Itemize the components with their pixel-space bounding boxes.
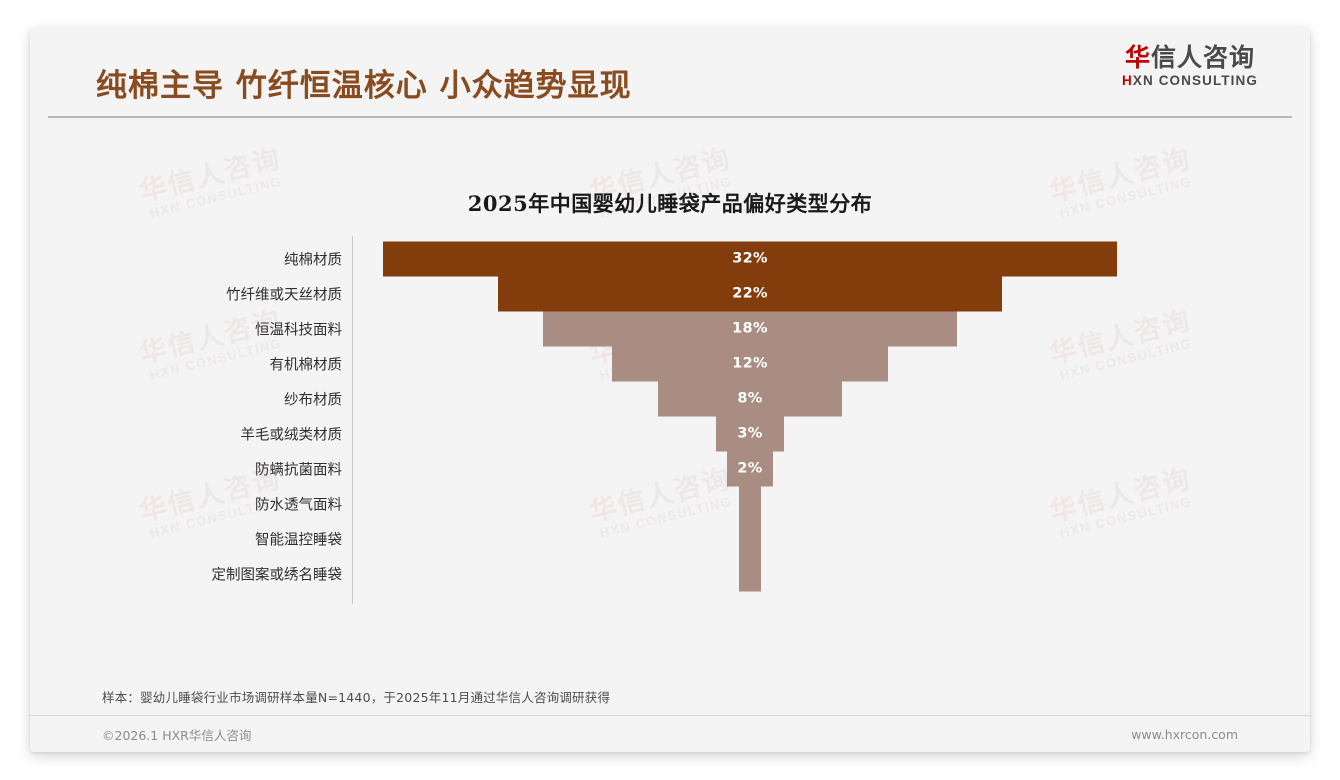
funnel-bar-4: 12% [612, 346, 887, 381]
slide-footer: ©2026.1 HXR华信人咨询 www.hxrcon.com [30, 716, 1310, 752]
bar-value-label-4: 12% [732, 356, 768, 372]
funnel-row: 纱布材质8% [30, 381, 1310, 416]
category-label-1: 纯棉材质 [30, 248, 342, 269]
category-label-4: 有机棉材质 [30, 353, 342, 374]
chart-title: 2025年中国婴幼儿睡袋产品偏好类型分布 [30, 188, 1310, 218]
bar-value-label-1: 32% [732, 251, 768, 267]
category-label-8: 防水透气面料 [30, 493, 342, 514]
category-label-10: 定制图案或绣名睡袋 [30, 563, 342, 584]
bar-value-label-6: 3% [737, 426, 762, 442]
bar-value-label-7: 2% [737, 461, 762, 477]
logo-accent-char: 华 [1125, 43, 1151, 72]
category-label-5: 纱布材质 [30, 388, 342, 409]
chart-container: 华信人咨询HXN CONSULTING华信人咨询HXN CONSULTING华信… [30, 124, 1310, 670]
funnel-bar-6: 3% [716, 416, 785, 451]
copyright-text: ©2026.1 HXR华信人咨询 [102, 725, 251, 744]
logo-chinese-rest: 信人咨询 [1151, 43, 1255, 72]
company-logo: 华信人咨询 HXN CONSULTING [1110, 44, 1270, 88]
source-footnote: 样本：婴幼儿睡袋行业市场调研样本量N=1440，于2025年11月通过华信人咨询… [102, 687, 1238, 706]
funnel-row: 纯棉材质32% [30, 241, 1310, 276]
header-divider [48, 116, 1292, 118]
funnel-row: 防水透气面料 [30, 486, 1310, 521]
slide-card: 纯棉主导 竹纤恒温核心 小众趋势显现 华信人咨询 HXN CONSULTING … [30, 28, 1310, 752]
funnel-bar-7: 2% [727, 451, 773, 486]
website-link[interactable]: www.hxrcon.com [1131, 727, 1238, 742]
bar-value-label-5: 8% [737, 391, 762, 407]
funnel-row: 羊毛或绒类材质3% [30, 416, 1310, 451]
funnel-bar-9 [739, 521, 762, 556]
funnel-bar-5: 8% [658, 381, 842, 416]
funnel-bar-2: 22% [498, 276, 1003, 311]
logo-en-accent-char: H [1122, 73, 1133, 88]
logo-english-text: HXN CONSULTING [1110, 73, 1270, 88]
category-label-6: 羊毛或绒类材质 [30, 423, 342, 444]
funnel-row: 有机棉材质12% [30, 346, 1310, 381]
slide-header: 纯棉主导 竹纤恒温核心 小众趋势显现 华信人咨询 HXN CONSULTING [30, 28, 1310, 124]
category-label-3: 恒温科技面料 [30, 318, 342, 339]
funnel-bar-3: 18% [543, 311, 956, 346]
funnel-row: 定制图案或绣名睡袋 [30, 556, 1310, 591]
category-label-7: 防螨抗菌面料 [30, 458, 342, 479]
funnel-row: 竹纤维或天丝材质22% [30, 276, 1310, 311]
funnel-chart-plot: 纯棉材质32%竹纤维或天丝材质22%恒温科技面料18%有机棉材质12%纱布材质8… [30, 236, 1310, 616]
footnote-container: 样本：婴幼儿睡袋行业市场调研样本量N=1440，于2025年11月通过华信人咨询… [30, 687, 1310, 706]
logo-chinese-text: 华信人咨询 [1110, 44, 1270, 72]
bar-value-label-3: 18% [732, 321, 768, 337]
funnel-bar-8 [739, 486, 762, 521]
funnel-row: 智能温控睡袋 [30, 521, 1310, 556]
funnel-row: 恒温科技面料18% [30, 311, 1310, 346]
category-label-9: 智能温控睡袋 [30, 528, 342, 549]
page-title: 纯棉主导 竹纤恒温核心 小众趋势显现 [96, 60, 632, 105]
funnel-bar-10 [739, 556, 762, 591]
logo-en-rest: XN CONSULTING [1133, 73, 1258, 88]
funnel-row: 防螨抗菌面料2% [30, 451, 1310, 486]
funnel-bar-1: 32% [383, 241, 1117, 276]
bar-value-label-2: 22% [732, 286, 768, 302]
category-label-2: 竹纤维或天丝材质 [30, 283, 342, 304]
